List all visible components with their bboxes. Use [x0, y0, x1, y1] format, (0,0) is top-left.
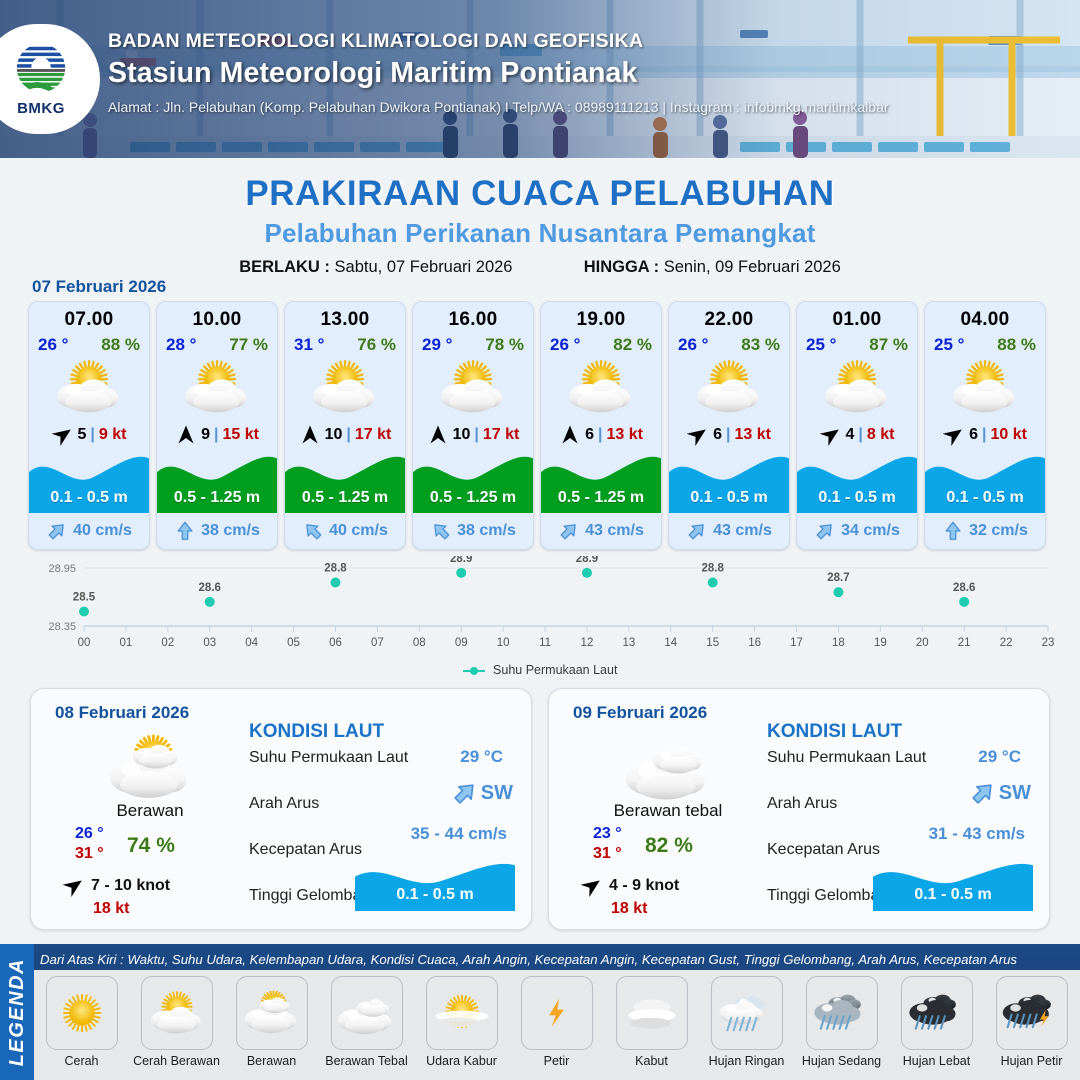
svg-text:03: 03: [203, 637, 216, 649]
card-wind-separator: |: [214, 426, 218, 444]
cerah-berawan-icon: [285, 356, 405, 418]
card-temp-humidity: 28 ° 77 %: [157, 331, 277, 355]
current-direction-icon: [942, 520, 964, 542]
card-humidity: 82 %: [613, 335, 652, 355]
hourly-card: 10.00 28 ° 77 % 9 | 15 kt 0.5 - 1.25 m: [156, 301, 278, 550]
legend-item-label: Hujan Sedang: [802, 1054, 881, 1068]
bmkg-logo-text: BMKG: [17, 100, 65, 117]
card-current-speed: 38 cm/s: [457, 522, 516, 540]
svg-text:04: 04: [245, 637, 258, 649]
card-wind-separator: |: [598, 426, 602, 444]
hujan-petir-icon: [996, 976, 1068, 1050]
hourly-card: 22.00 26 ° 83 % 6 | 13 kt 0.1 - 0.5 m: [668, 301, 790, 550]
daily-forecast-panel: 09 Februari 2026 Berawan tebal 23 ° 31 °…: [548, 688, 1050, 930]
svg-text:01: 01: [120, 637, 133, 649]
panel-current-speed: 35 - 44 cm/s: [411, 824, 507, 844]
card-wave-height: 0.1 - 0.5 m: [29, 451, 149, 513]
svg-text:28.6: 28.6: [199, 582, 221, 594]
legend-item: Cerah: [34, 976, 129, 1068]
card-wind-speed: 6: [713, 426, 722, 444]
panel-current-direction: SW: [969, 779, 1031, 807]
page-subtitle: Pelabuhan Perikanan Nusantara Pemangkat: [0, 218, 1080, 249]
current-direction-icon: [969, 779, 997, 807]
svg-text:09: 09: [455, 637, 468, 649]
card-current: 34 cm/s: [797, 513, 917, 549]
agency-name: BADAN METEOROLOGI KLIMATOLOGI DAN GEOFIS…: [108, 30, 889, 53]
legend-item: Berawan Tebal: [319, 976, 414, 1068]
card-wind-separator: |: [982, 426, 986, 444]
card-time: 19.00: [541, 302, 661, 331]
card-wind-speed: 6: [969, 426, 978, 444]
cerah-berawan-icon: [797, 356, 917, 418]
cerah-berawan-icon: [669, 356, 789, 418]
card-wave-height: 0.1 - 0.5 m: [797, 451, 917, 513]
card-wave-height: 0.5 - 1.25 m: [157, 451, 277, 513]
card-current-speed: 40 cm/s: [73, 522, 132, 540]
card-time: 07.00: [29, 302, 149, 331]
panel-gust: 18 kt: [611, 900, 647, 918]
cerah-berawan-icon: [413, 356, 533, 418]
svg-text:28.9: 28.9: [450, 556, 472, 565]
svg-text:08: 08: [413, 637, 426, 649]
card-humidity: 88 %: [101, 335, 140, 355]
panel-temp-min: 23 °: [593, 825, 622, 843]
wind-direction-icon: [175, 424, 197, 446]
card-wind-separator: |: [90, 426, 94, 444]
header-text-block: BADAN METEOROLOGI KLIMATOLOGI DAN GEOFIS…: [108, 30, 889, 115]
card-wave-height: 0.1 - 0.5 m: [669, 451, 789, 513]
svg-text:28.9: 28.9: [576, 556, 598, 565]
card-wave-label: 0.5 - 1.25 m: [413, 489, 533, 507]
panel-wind-speed: 7 - 10 knot: [91, 877, 170, 895]
card-wind: 6 | 13 kt: [669, 418, 789, 451]
panel-condition: Berawan: [55, 801, 245, 821]
panel-current-direction-label: SW: [481, 782, 513, 805]
panel-temperatures: 23 ° 31 °: [593, 825, 622, 863]
panel-temp-max: 31 °: [75, 845, 104, 863]
card-temperature: 26 °: [678, 335, 708, 355]
berawan-tebal-icon: [619, 733, 719, 808]
card-current: 40 cm/s: [29, 513, 149, 549]
card-current: 43 cm/s: [541, 513, 661, 549]
berawan-icon: [236, 976, 308, 1050]
panel-current-direction-label: SW: [999, 782, 1031, 805]
legend-item: Hujan Petir: [984, 976, 1079, 1068]
panel-sea-title: KONDISI LAUT: [249, 721, 384, 743]
svg-text:22: 22: [1000, 637, 1013, 649]
panel-wave-label: 0.1 - 0.5 m: [873, 886, 1033, 904]
legend-item-label: Cerah: [64, 1054, 98, 1068]
legend-side-title: LEGENDA: [6, 958, 29, 1066]
card-wave-height: 0.5 - 1.25 m: [413, 451, 533, 513]
header-banner: BMKG BADAN METEOROLOGI KLIMATOLOGI DAN G…: [0, 0, 1080, 158]
card-temp-humidity: 25 ° 88 %: [925, 331, 1045, 355]
card-wind-separator: |: [474, 426, 478, 444]
svg-text:14: 14: [664, 637, 677, 649]
wind-direction-icon: [559, 424, 581, 446]
card-wind-speed: 5: [78, 426, 87, 444]
card-wind-separator: |: [346, 426, 350, 444]
petir-icon: [521, 976, 593, 1050]
card-wave-label: 0.1 - 0.5 m: [925, 489, 1045, 507]
svg-text:00: 00: [78, 637, 91, 649]
card-time: 22.00: [669, 302, 789, 331]
legend-item-label: Berawan Tebal: [325, 1054, 407, 1068]
card-time: 10.00: [157, 302, 277, 331]
card-current: 40 cm/s: [285, 513, 405, 549]
panel-date: 08 Februari 2026: [55, 703, 189, 723]
svg-text:28.95: 28.95: [48, 563, 76, 575]
svg-text:23: 23: [1042, 637, 1055, 649]
panel-sst-value: 29 °C: [460, 747, 503, 767]
panel-current-speed: 31 - 43 cm/s: [929, 824, 1025, 844]
card-humidity: 88 %: [997, 335, 1036, 355]
panel-humidity: 82 %: [645, 834, 693, 858]
hujan-ringan-icon: [711, 976, 783, 1050]
cerah-berawan-icon: [541, 356, 661, 418]
legend-item-label: Berawan: [247, 1054, 296, 1068]
sst-chart: 28.9528.35000102030405060708091011121314…: [22, 556, 1058, 676]
panel-gust: 18 kt: [93, 900, 129, 918]
legend-item: Cerah Berawan: [129, 976, 224, 1068]
hourly-card: 16.00 29 ° 78 % 10 | 17 kt 0.5 - 1.25 m: [412, 301, 534, 550]
panel-temperatures: 26 ° 31 °: [75, 825, 104, 863]
legend-item: Berawan: [224, 976, 319, 1068]
svg-text:28.35: 28.35: [48, 621, 76, 633]
berlaku-label: BERLAKU :: [239, 258, 330, 276]
title-section: PRAKIRAAN CUACA PELABUHAN Pelabuhan Peri…: [0, 158, 1080, 277]
card-temp-humidity: 31 ° 76 %: [285, 331, 405, 355]
bmkg-emblem-icon: [12, 41, 70, 99]
cerah-berawan-icon: [925, 356, 1045, 418]
hingga-label: HINGGA :: [584, 258, 659, 276]
legend-item: Petir: [509, 976, 604, 1068]
card-gust: 10 kt: [990, 426, 1026, 444]
card-wave-label: 0.5 - 1.25 m: [541, 489, 661, 507]
card-wave-height: 0.5 - 1.25 m: [285, 451, 405, 513]
card-wind: 9 | 15 kt: [157, 418, 277, 451]
svg-text:19: 19: [874, 637, 887, 649]
current-direction-icon: [451, 779, 479, 807]
legend-item-label: Cerah Berawan: [133, 1054, 220, 1068]
svg-text:17: 17: [790, 637, 803, 649]
legend-item-label: Petir: [544, 1054, 570, 1068]
svg-text:06: 06: [329, 637, 342, 649]
card-wind: 4 | 8 kt: [797, 418, 917, 451]
card-wind: 6 | 10 kt: [925, 418, 1045, 451]
legend-marker-icon: [463, 666, 485, 676]
card-gust: 17 kt: [355, 426, 391, 444]
panel-wave-height: 0.1 - 0.5 m: [873, 859, 1033, 911]
card-humidity: 77 %: [229, 335, 268, 355]
station-address: Alamat : Jln. Pelabuhan (Komp. Pelabuhan…: [108, 99, 889, 115]
berawan-tebal-icon: [331, 976, 403, 1050]
svg-text:28.6: 28.6: [953, 582, 975, 594]
svg-text:07: 07: [371, 637, 384, 649]
card-temp-humidity: 26 ° 83 %: [669, 331, 789, 355]
card-wind-speed: 10: [453, 426, 471, 444]
card-time: 16.00: [413, 302, 533, 331]
svg-text:05: 05: [287, 637, 300, 649]
legend-item-label: Hujan Petir: [1001, 1054, 1063, 1068]
svg-text:11: 11: [539, 637, 551, 649]
current-direction-icon: [558, 520, 580, 542]
card-current-speed: 32 cm/s: [969, 522, 1028, 540]
cerah-berawan-icon: [141, 976, 213, 1050]
svg-text:02: 02: [161, 637, 174, 649]
svg-text:21: 21: [958, 637, 971, 649]
card-temperature: 26 °: [550, 335, 580, 355]
hourly-card: 19.00 26 ° 82 % 6 | 13 kt 0.5 - 1.25 m: [540, 301, 662, 550]
card-temperature: 25 °: [934, 335, 964, 355]
card-wave-label: 0.1 - 0.5 m: [797, 489, 917, 507]
hourly-card: 04.00 25 ° 88 % 6 | 10 kt 0.1 - 0.5 m: [924, 301, 1046, 550]
hujan-sedang-icon: [806, 976, 878, 1050]
svg-text:28.5: 28.5: [73, 592, 96, 604]
card-temp-humidity: 26 ° 82 %: [541, 331, 661, 355]
panel-wave-height: 0.1 - 0.5 m: [355, 859, 515, 911]
card-wind-separator: |: [726, 426, 730, 444]
card-temperature: 29 °: [422, 335, 452, 355]
legend-item: Udara Kabur: [414, 976, 509, 1068]
card-time: 01.00: [797, 302, 917, 331]
cerah-icon: [46, 976, 118, 1050]
card-temperature: 25 °: [806, 335, 836, 355]
sst-chart-svg: 28.9528.35000102030405060708091011121314…: [22, 556, 1058, 668]
card-wave-label: 0.5 - 1.25 m: [285, 489, 405, 507]
chart-legend: Suhu Permukaan Laut: [0, 663, 1080, 677]
card-humidity: 76 %: [357, 335, 396, 355]
wind-direction-icon: [427, 424, 449, 446]
legend-item: Hujan Ringan: [699, 976, 794, 1068]
svg-text:18: 18: [832, 637, 845, 649]
station-name: Stasiun Meteorologi Maritim Pontianak: [108, 57, 889, 90]
hujan-lebat-icon: [901, 976, 973, 1050]
card-wind: 10 | 17 kt: [285, 418, 405, 451]
validity-dates: BERLAKU : Sabtu, 07 Februari 2026 HINGGA…: [0, 258, 1080, 277]
daily-forecast-panel: 08 Februari 2026 Berawan 26 ° 31 ° 74 % …: [30, 688, 532, 930]
card-gust: 17 kt: [483, 426, 519, 444]
card-time: 13.00: [285, 302, 405, 331]
card-current: 38 cm/s: [413, 513, 533, 549]
card-gust: 8 kt: [867, 426, 895, 444]
card-wind-speed: 6: [585, 426, 594, 444]
hourly-card: 07.00 26 ° 88 % 5 | 9 kt 0.1 - 0.5 m: [28, 301, 150, 550]
svg-text:16: 16: [748, 637, 761, 649]
card-temperature: 26 °: [38, 335, 68, 355]
card-wave-height: 0.1 - 0.5 m: [925, 451, 1045, 513]
card-time: 04.00: [925, 302, 1045, 331]
legend-note: Dari Atas Kiri : Waktu, Suhu Udara, Kele…: [40, 952, 1017, 967]
card-current-speed: 43 cm/s: [713, 522, 772, 540]
card-current-speed: 43 cm/s: [585, 522, 644, 540]
legend-item-label: Udara Kabur: [426, 1054, 497, 1068]
panel-wind-speed: 4 - 9 knot: [609, 877, 679, 895]
current-direction-icon: [174, 520, 196, 542]
card-wind-speed: 4: [846, 426, 855, 444]
svg-text:12: 12: [581, 637, 594, 649]
card-wind: 5 | 9 kt: [29, 418, 149, 451]
wind-direction-icon: [687, 424, 709, 446]
card-temp-humidity: 25 ° 87 %: [797, 331, 917, 355]
legend-item: Hujan Sedang: [794, 976, 889, 1068]
hourly-day-label: 07 Februari 2026: [32, 277, 166, 297]
card-current: 32 cm/s: [925, 513, 1045, 549]
card-wind-speed: 9: [201, 426, 210, 444]
cerah-berawan-icon: [29, 356, 149, 418]
card-gust: 9 kt: [99, 426, 127, 444]
card-temp-humidity: 29 ° 78 %: [413, 331, 533, 355]
svg-text:28.7: 28.7: [827, 572, 849, 584]
legend-footer: LEGENDA Dari Atas Kiri : Waktu, Suhu Uda…: [0, 944, 1080, 1080]
legend-item: Kabut: [604, 976, 699, 1068]
card-wind: 6 | 13 kt: [541, 418, 661, 451]
panel-temp-max: 31 °: [593, 845, 622, 863]
legend-item-label: Hujan Ringan: [709, 1054, 785, 1068]
hourly-card: 13.00 31 ° 76 % 10 | 17 kt 0.5 - 1.25 m: [284, 301, 406, 550]
wind-direction-icon: [52, 424, 74, 446]
card-temperature: 28 °: [166, 335, 196, 355]
card-current: 38 cm/s: [157, 513, 277, 549]
berawan-icon: [101, 733, 201, 808]
legend-items: Cerah Cerah Berawan Berawan: [34, 976, 1080, 1068]
hourly-forecast-cards: 07.00 26 ° 88 % 5 | 9 kt 0.1 - 0.5 m: [28, 301, 1052, 550]
panel-wind: 4 - 9 knot: [581, 875, 679, 897]
card-humidity: 78 %: [485, 335, 524, 355]
card-temp-humidity: 26 ° 88 %: [29, 331, 149, 355]
legend-item-label: Hujan Lebat: [903, 1054, 970, 1068]
legend-item-label: Kabut: [635, 1054, 668, 1068]
card-wave-height: 0.5 - 1.25 m: [541, 451, 661, 513]
svg-text:15: 15: [706, 637, 719, 649]
berlaku-value: Sabtu, 07 Februari 2026: [335, 258, 513, 276]
kabut-icon: [616, 976, 688, 1050]
card-wave-label: 0.1 - 0.5 m: [669, 489, 789, 507]
card-current: 43 cm/s: [669, 513, 789, 549]
card-wind-separator: |: [858, 426, 862, 444]
card-wind: 10 | 17 kt: [413, 418, 533, 451]
card-gust: 15 kt: [222, 426, 258, 444]
card-humidity: 87 %: [869, 335, 908, 355]
chart-legend-label: Suhu Permukaan Laut: [493, 663, 617, 677]
card-temperature: 31 °: [294, 335, 324, 355]
panel-humidity: 74 %: [127, 834, 175, 858]
card-current-speed: 40 cm/s: [329, 522, 388, 540]
current-direction-icon: [430, 520, 452, 542]
panel-temp-min: 26 °: [75, 825, 104, 843]
current-direction-icon: [46, 520, 68, 542]
panel-date: 09 Februari 2026: [573, 703, 707, 723]
svg-text:28.8: 28.8: [702, 563, 725, 575]
panel-condition: Berawan tebal: [573, 801, 763, 821]
panel-sst-value: 29 °C: [978, 747, 1021, 767]
page-title: PRAKIRAAN CUACA PELABUHAN: [0, 174, 1080, 214]
card-gust: 13 kt: [606, 426, 642, 444]
card-gust: 13 kt: [734, 426, 770, 444]
current-direction-icon: [302, 520, 324, 542]
legend-side-tab: LEGENDA: [0, 944, 34, 1080]
panel-wind: 7 - 10 knot: [63, 875, 170, 897]
panel-sea-title: KONDISI LAUT: [767, 721, 902, 743]
hingga-value: Senin, 09 Februari 2026: [664, 258, 841, 276]
card-humidity: 83 %: [741, 335, 780, 355]
panel-wave-label: 0.1 - 0.5 m: [355, 886, 515, 904]
wind-direction-icon: [820, 424, 842, 446]
legend-item: Hujan Lebat: [889, 976, 984, 1068]
card-wind-speed: 10: [325, 426, 343, 444]
svg-text:13: 13: [622, 637, 635, 649]
cerah-berawan-icon: [157, 356, 277, 418]
current-direction-icon: [686, 520, 708, 542]
wind-direction-icon: [943, 424, 965, 446]
udara-kabur-icon: [426, 976, 498, 1050]
current-direction-icon: [814, 520, 836, 542]
svg-text:10: 10: [497, 637, 510, 649]
card-current-speed: 38 cm/s: [201, 522, 260, 540]
wind-direction-icon: [63, 875, 85, 897]
panel-current-direction: SW: [451, 779, 513, 807]
card-current-speed: 34 cm/s: [841, 522, 900, 540]
svg-text:28.8: 28.8: [324, 563, 347, 575]
wind-direction-icon: [581, 875, 603, 897]
daily-forecast-panels: 08 Februari 2026 Berawan 26 ° 31 ° 74 % …: [30, 688, 1050, 930]
svg-text:20: 20: [916, 637, 929, 649]
card-wave-label: 0.5 - 1.25 m: [157, 489, 277, 507]
hourly-card: 01.00 25 ° 87 % 4 | 8 kt 0.1 - 0.5 m: [796, 301, 918, 550]
card-wave-label: 0.1 - 0.5 m: [29, 489, 149, 507]
wind-direction-icon: [299, 424, 321, 446]
